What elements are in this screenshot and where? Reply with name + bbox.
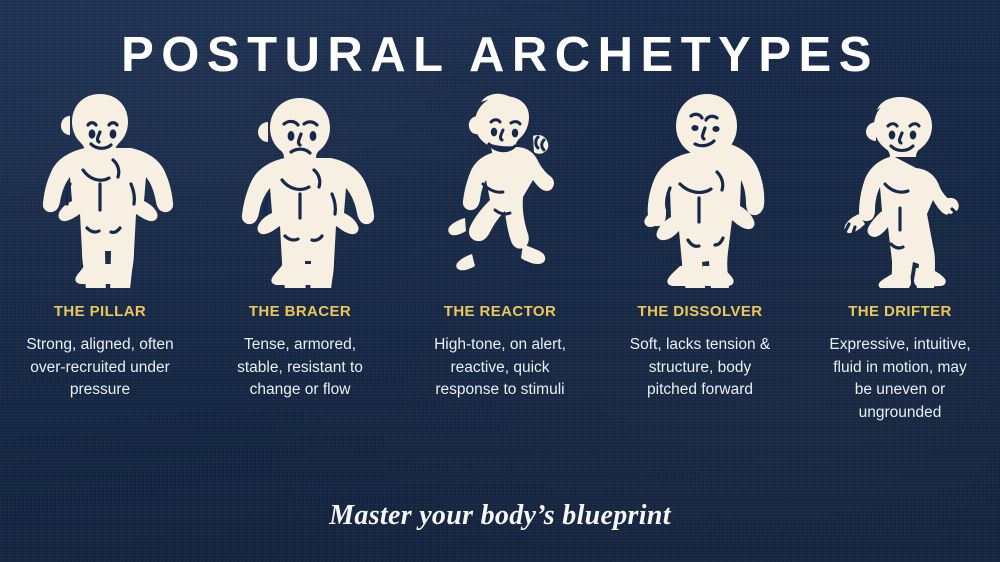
archetype-card-reactor: THE REACTOR High-tone, on alert, reactiv… — [400, 88, 600, 478]
archetype-label: THE BRACER — [249, 303, 351, 320]
dissolver-figure-box — [615, 88, 785, 288]
archetype-description: Expressive, intuitive, fluid in motion, … — [825, 334, 975, 424]
reactor-figure — [425, 88, 575, 288]
reactor-figure-box — [415, 88, 585, 288]
archetype-label: THE DISSOLVER — [638, 303, 763, 320]
archetype-card-drifter: THE DRIFTER Expressive, intuitive, fluid… — [800, 88, 1000, 478]
archetype-columns: THE PILLAR Strong, aligned, often over-r… — [0, 88, 1000, 478]
archetype-description: Tense, armored, stable, resistant to cha… — [225, 334, 375, 402]
drifter-figure-box — [815, 88, 985, 288]
archetype-description: Strong, aligned, often over-recruited un… — [25, 334, 175, 402]
dissolver-figure — [625, 88, 775, 288]
pillar-figure-box — [15, 88, 185, 288]
page-title: POSTURAL ARCHETYPES — [0, 27, 1000, 83]
archetype-card-dissolver: THE DISSOLVER Soft, lacks tension & stru… — [600, 88, 800, 478]
archetype-label: THE REACTOR — [444, 303, 556, 320]
archetype-card-pillar: THE PILLAR Strong, aligned, often over-r… — [0, 88, 200, 478]
tagline: Master your body’s blueprint — [0, 500, 1000, 532]
pillar-figure — [25, 88, 175, 288]
archetype-label: THE PILLAR — [54, 303, 146, 320]
poster-canvas: POSTURAL ARCHETYPES — [0, 0, 1000, 562]
archetype-description: Soft, lacks tension & structure, body pi… — [625, 334, 775, 402]
archetype-description: High-tone, on alert, reactive, quick res… — [425, 334, 575, 402]
archetype-label: THE DRIFTER — [848, 303, 952, 320]
drifter-figure — [825, 88, 975, 288]
archetype-card-bracer: THE BRACER Tense, armored, stable, resis… — [200, 88, 400, 478]
bracer-figure — [225, 88, 375, 288]
bracer-figure-box — [215, 88, 385, 288]
